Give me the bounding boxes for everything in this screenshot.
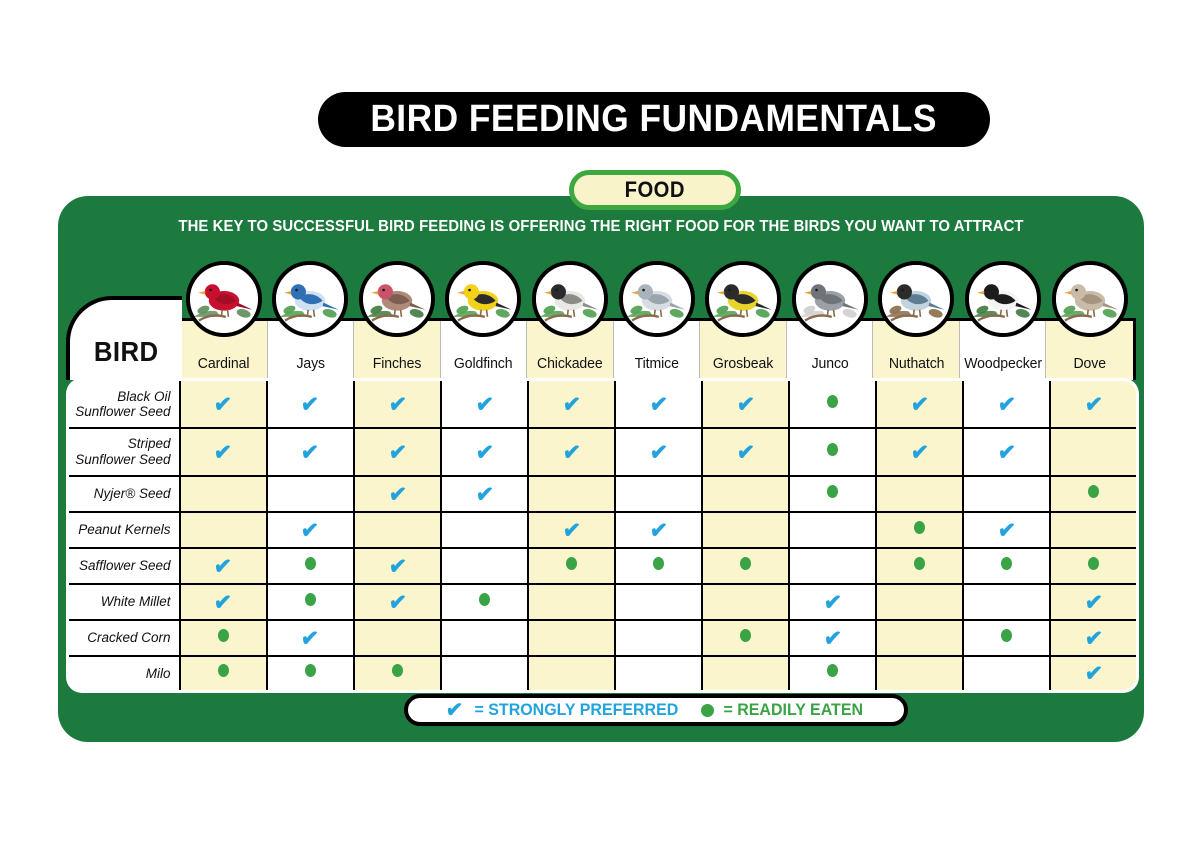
- empty-cell: [919, 676, 920, 677]
- matrix-cell: ✔: [441, 428, 528, 476]
- empty-cell: [484, 569, 485, 570]
- bird-header-label: Nuthatch: [888, 356, 944, 372]
- titmouse-illustration: [619, 261, 695, 337]
- matrix-cell: ✔: [1050, 656, 1137, 692]
- food-row-label: White Millet: [68, 584, 180, 620]
- matrix-cell: [441, 620, 528, 656]
- title-banner: BIRD FEEDING FUNDAMENTALS: [318, 92, 990, 147]
- empty-cell: [223, 533, 224, 534]
- empty-cell: [832, 569, 833, 570]
- green-dot-icon: [1088, 557, 1099, 570]
- check-mark-icon: ✔: [997, 392, 1017, 417]
- green-dot-icon: [827, 395, 838, 408]
- matrix-cell: ✔: [180, 428, 267, 476]
- check-mark-icon: ✔: [474, 392, 494, 417]
- empty-cell: [745, 676, 746, 677]
- page-title: BIRD FEEDING FUNDAMENTALS: [371, 98, 938, 141]
- check-mark-icon: ✔: [387, 590, 407, 615]
- check-mark-icon: ✔: [649, 518, 669, 543]
- dove-illustration: [1052, 261, 1128, 337]
- matrix-cell: ✔: [267, 620, 354, 656]
- bird-header-label: Woodpecker: [964, 356, 1042, 372]
- bird-header-label: Goldfinch: [454, 356, 513, 372]
- matrix-cell: [354, 512, 441, 548]
- goldfinch-illustration: [445, 261, 521, 337]
- green-dot-icon: [218, 664, 229, 677]
- matrix-cell: ✔: [354, 548, 441, 584]
- bird-header-label: Chickadee: [537, 356, 603, 372]
- empty-cell: [397, 641, 398, 642]
- empty-cell: [1093, 533, 1094, 534]
- bird-header-cell-jays: Jays: [268, 321, 355, 380]
- table-row: Peanut Kernels✔✔✔✔: [68, 512, 1138, 548]
- bird-header-label: Finches: [373, 356, 422, 372]
- green-dot-icon: [914, 557, 925, 570]
- green-dot-icon: [1001, 629, 1012, 642]
- empty-cell: [745, 533, 746, 534]
- matrix-cell: ✔: [1050, 584, 1137, 620]
- empty-cell: [745, 497, 746, 498]
- bird-header-label: Titmice: [634, 356, 678, 372]
- check-mark-icon: ✔: [474, 482, 494, 507]
- bird-axis-tab: BIRD: [66, 296, 182, 380]
- matrix-cell: [789, 548, 876, 584]
- woodpecker-illustration: [965, 261, 1041, 337]
- matrix-cell: [702, 548, 789, 584]
- matrix-cell: [615, 584, 702, 620]
- matrix-cell: ✔: [876, 380, 963, 428]
- matrix-cell: ✔: [180, 380, 267, 428]
- matrix-cell: ✔: [963, 380, 1050, 428]
- matrix-cell: [789, 428, 876, 476]
- check-mark-icon: ✔: [823, 590, 843, 615]
- matrix-cell: [876, 512, 963, 548]
- check-mark-icon: ✔: [213, 590, 233, 615]
- matrix-cell: ✔: [615, 380, 702, 428]
- empty-cell: [1006, 497, 1007, 498]
- empty-cell: [832, 533, 833, 534]
- matrix-cell: ✔: [615, 512, 702, 548]
- check-mark-icon: ✔: [910, 440, 930, 465]
- matrix-cell: ✔: [1050, 620, 1137, 656]
- check-mark-icon: ✔: [474, 440, 494, 465]
- infographic-root: BIRD FEEDING FUNDAMENTALS THE KEY TO SUC…: [0, 0, 1200, 841]
- check-mark-icon: ✔: [997, 440, 1017, 465]
- empty-cell: [919, 497, 920, 498]
- food-row-label: Peanut Kernels: [68, 512, 180, 548]
- empty-cell: [658, 676, 659, 677]
- empty-cell: [1093, 455, 1094, 456]
- green-dot-icon: [653, 557, 664, 570]
- empty-cell: [397, 533, 398, 534]
- green-dot-icon: [305, 593, 316, 606]
- matrix-cell: [267, 656, 354, 692]
- bird-header-cell-nuthatch: Nuthatch: [873, 321, 960, 380]
- matrix-cell: [267, 548, 354, 584]
- food-row-label: Milo: [68, 656, 180, 692]
- empty-cell: [658, 605, 659, 606]
- matrix-cell: ✔: [354, 380, 441, 428]
- junco-illustration: [792, 261, 868, 337]
- table-row: StripedSunflower Seed✔✔✔✔✔✔✔✔✔: [68, 428, 1138, 476]
- matrix-cell: [528, 548, 615, 584]
- food-label-line-1: Cracked Corn: [87, 630, 170, 645]
- check-mark-icon: ✔: [1084, 392, 1104, 417]
- empty-cell: [484, 533, 485, 534]
- food-label-line-1: Striped: [128, 436, 171, 451]
- empty-cell: [571, 641, 572, 642]
- check-mark-icon: ✔: [562, 440, 582, 465]
- food-label-line-1: Black Oil: [117, 389, 170, 404]
- check-mark-icon: ✔: [1084, 626, 1104, 651]
- check-mark-icon: ✔: [213, 554, 233, 579]
- food-row-label: Nyjer® Seed: [68, 476, 180, 512]
- matrix-cell: [963, 476, 1050, 512]
- bird-header-cell-titmice: Titmice: [614, 321, 701, 380]
- empty-cell: [1006, 605, 1007, 606]
- bird-header-row: CardinalJaysFinchesGoldfinchChickadeeTit…: [178, 318, 1136, 380]
- check-mark-icon: ✔: [213, 440, 233, 465]
- food-label-line-2: Sunflower Seed: [75, 452, 170, 467]
- matrix-cell: [876, 476, 963, 512]
- matrix-cell: ✔: [528, 428, 615, 476]
- matrix-cell: [702, 512, 789, 548]
- table-row: White Millet✔✔✔✔: [68, 584, 1138, 620]
- check-mark-icon: ✔: [213, 392, 233, 417]
- check-mark-icon: ✔: [300, 440, 320, 465]
- matrix-cell: [441, 584, 528, 620]
- bird-header-cell-junco: Junco: [787, 321, 874, 380]
- bird-header-label: Grosbeak: [713, 356, 773, 372]
- check-mark-icon: ✔: [649, 392, 669, 417]
- matrix-cell: [180, 512, 267, 548]
- matrix-cell: [615, 620, 702, 656]
- food-row-label: StripedSunflower Seed: [68, 428, 180, 476]
- check-mark-icon: ✔: [387, 392, 407, 417]
- check-mark-icon: ✔: [387, 440, 407, 465]
- nuthatch-illustration: [878, 261, 954, 337]
- matrix-cell: [1050, 512, 1137, 548]
- green-dot-icon: [305, 664, 316, 677]
- matrix-cell: [1050, 548, 1137, 584]
- matrix-cell: ✔: [615, 428, 702, 476]
- check-mark-icon: ✔: [300, 518, 320, 543]
- matrix-cell: ✔: [441, 380, 528, 428]
- green-dot-icon: [1001, 557, 1012, 570]
- empty-cell: [571, 497, 572, 498]
- table-row: Safflower Seed✔✔: [68, 548, 1138, 584]
- matrix-cell: ✔: [354, 584, 441, 620]
- matrix-cell: [528, 476, 615, 512]
- matrix-cell: [354, 656, 441, 692]
- food-label-line-1: Milo: [146, 666, 171, 681]
- empty-cell: [223, 497, 224, 498]
- matrix-cell: ✔: [789, 620, 876, 656]
- check-mark-icon: ✔: [562, 392, 582, 417]
- matrix-cell: ✔: [1050, 380, 1137, 428]
- legend: ✔ = STRONGLY PREFERRED = READILY EATEN: [404, 694, 908, 726]
- check-mark-icon: ✔: [910, 392, 930, 417]
- matrix-cell: ✔: [963, 512, 1050, 548]
- bird-header-cell-woodpecker: Woodpecker: [960, 321, 1047, 380]
- matrix-cell: ✔: [267, 428, 354, 476]
- bird-header-cell-goldfinch: Goldfinch: [441, 321, 528, 380]
- check-mark-icon: ✔: [823, 626, 843, 651]
- legend-preferred-label: = STRONGLY PREFERRED: [475, 700, 679, 720]
- check-mark-icon: ✔: [1084, 661, 1104, 686]
- bird-header-label: Junco: [811, 356, 848, 372]
- check-mark-icon: ✔: [736, 440, 756, 465]
- matrix-cell: [876, 584, 963, 620]
- food-label-line-1: Nyjer® Seed: [94, 486, 171, 501]
- matrix-cell: [789, 512, 876, 548]
- food-row-label: Black OilSunflower Seed: [68, 380, 180, 428]
- green-dot-icon: [740, 557, 751, 570]
- matrix-cell: [267, 584, 354, 620]
- matrix-cell: ✔: [354, 476, 441, 512]
- food-row-label: Safflower Seed: [68, 548, 180, 584]
- grosbeak-illustration: [705, 261, 781, 337]
- table-row: Nyjer® Seed✔✔: [68, 476, 1138, 512]
- check-mark-icon: ✔: [387, 554, 407, 579]
- empty-cell: [484, 676, 485, 677]
- matrix-cell: [1050, 428, 1137, 476]
- matrix-cell: [789, 380, 876, 428]
- food-bird-matrix: Black OilSunflower Seed✔✔✔✔✔✔✔✔✔✔Striped…: [66, 378, 1139, 693]
- legend-item-preferred: ✔ = STRONGLY PREFERRED: [445, 699, 685, 721]
- empty-cell: [658, 641, 659, 642]
- matrix-cell: ✔: [789, 584, 876, 620]
- matrix-cell: ✔: [267, 512, 354, 548]
- food-bird-matrix-wrapper: Black OilSunflower Seed✔✔✔✔✔✔✔✔✔✔Striped…: [66, 378, 1136, 693]
- empty-cell: [484, 641, 485, 642]
- matrix-cell: [180, 656, 267, 692]
- food-label-line-1: Safflower Seed: [79, 558, 171, 573]
- matrix-cell: [528, 620, 615, 656]
- bird-header-label: Dove: [1074, 356, 1106, 372]
- matrix-cell: [615, 548, 702, 584]
- cardinal-illustration: [186, 261, 262, 337]
- matrix-cell: [615, 476, 702, 512]
- matrix-cell: [615, 656, 702, 692]
- green-dot-icon: [827, 664, 838, 677]
- legend-readily-label: = READILY EATEN: [723, 700, 863, 720]
- matrix-cell: ✔: [180, 548, 267, 584]
- table-row: Cracked Corn✔✔✔: [68, 620, 1138, 656]
- matrix-cell: [876, 620, 963, 656]
- matrix-cell: ✔: [702, 380, 789, 428]
- matrix-cell: ✔: [354, 428, 441, 476]
- matrix-cell: [963, 656, 1050, 692]
- matrix-cell: ✔: [441, 476, 528, 512]
- matrix-cell: [963, 620, 1050, 656]
- matrix-cell: [963, 548, 1050, 584]
- blue-jay-illustration: [272, 261, 348, 337]
- matrix-cell: [441, 656, 528, 692]
- green-dot-icon: [827, 485, 838, 498]
- matrix-cell: [876, 548, 963, 584]
- food-label-line-1: Peanut Kernels: [78, 522, 170, 537]
- matrix-cell: ✔: [876, 428, 963, 476]
- matrix-cell: [528, 584, 615, 620]
- section-tab-food: FOOD: [569, 170, 741, 210]
- bird-header-cell-chickadee: Chickadee: [527, 321, 614, 380]
- empty-cell: [1006, 676, 1007, 677]
- matrix-cell: [702, 656, 789, 692]
- bird-header-label: Cardinal: [198, 356, 250, 372]
- check-mark-icon: ✔: [562, 518, 582, 543]
- matrix-cell: [267, 476, 354, 512]
- green-dot-icon: [305, 557, 316, 570]
- matrix-cell: [528, 656, 615, 692]
- chickadee-illustration: [532, 261, 608, 337]
- section-tab-label: FOOD: [625, 177, 685, 203]
- check-mark-icon: ✔: [1084, 590, 1104, 615]
- check-mark-icon: ✔: [649, 440, 669, 465]
- empty-cell: [919, 605, 920, 606]
- empty-cell: [571, 676, 572, 677]
- empty-cell: [658, 497, 659, 498]
- green-dot-icon: [914, 521, 925, 534]
- matrix-cell: ✔: [702, 428, 789, 476]
- check-mark-icon: ✔: [444, 698, 463, 722]
- empty-cell: [571, 605, 572, 606]
- matrix-cell: [702, 620, 789, 656]
- check-mark-icon: ✔: [300, 626, 320, 651]
- green-dot-icon: [740, 629, 751, 642]
- house-finch-illustration: [359, 261, 435, 337]
- empty-cell: [919, 641, 920, 642]
- food-label-line-1: White Millet: [101, 594, 171, 609]
- check-mark-icon: ✔: [736, 392, 756, 417]
- green-dot-icon: [701, 704, 714, 717]
- bird-header-label: Jays: [296, 356, 325, 372]
- legend-item-readily-eaten: = READILY EATEN: [701, 700, 867, 720]
- empty-cell: [310, 497, 311, 498]
- check-mark-icon: ✔: [997, 518, 1017, 543]
- matrix-cell: ✔: [528, 380, 615, 428]
- food-row-label: Cracked Corn: [68, 620, 180, 656]
- matrix-cell: [1050, 476, 1137, 512]
- empty-cell: [745, 605, 746, 606]
- matrix-cell: [180, 476, 267, 512]
- green-dot-icon: [218, 629, 229, 642]
- table-row: Black OilSunflower Seed✔✔✔✔✔✔✔✔✔✔: [68, 380, 1138, 428]
- matrix-cell: [180, 620, 267, 656]
- matrix-cell: ✔: [267, 380, 354, 428]
- table-row: Milo✔: [68, 656, 1138, 692]
- green-dot-icon: [566, 557, 577, 570]
- matrix-cell: [441, 548, 528, 584]
- matrix-cell: [789, 476, 876, 512]
- bird-header-cell-cardinal: Cardinal: [181, 321, 268, 380]
- bird-header-cell-grosbeak: Grosbeak: [700, 321, 787, 380]
- matrix-cell: [702, 476, 789, 512]
- bird-header-cell-finches: Finches: [354, 321, 441, 380]
- matrix-cell: [963, 584, 1050, 620]
- matrix-cell: [354, 620, 441, 656]
- bird-header-cell-dove: Dove: [1046, 321, 1133, 380]
- matrix-cell: [702, 584, 789, 620]
- matrix-cell: [789, 656, 876, 692]
- matrix-cell: [441, 512, 528, 548]
- matrix-cell: [876, 656, 963, 692]
- subtitle-text: THE KEY TO SUCCESSFUL BIRD FEEDING IS OF…: [80, 218, 1123, 236]
- green-dot-icon: [479, 593, 490, 606]
- bird-axis-label: BIRD: [94, 336, 159, 368]
- matrix-cell: ✔: [963, 428, 1050, 476]
- check-mark-icon: ✔: [387, 482, 407, 507]
- matrix-cell: ✔: [528, 512, 615, 548]
- food-label-line-2: Sunflower Seed: [75, 404, 170, 419]
- green-dot-icon: [392, 664, 403, 677]
- check-mark-icon: ✔: [300, 392, 320, 417]
- matrix-cell: ✔: [180, 584, 267, 620]
- green-dot-icon: [1088, 485, 1099, 498]
- green-dot-icon: [827, 443, 838, 456]
